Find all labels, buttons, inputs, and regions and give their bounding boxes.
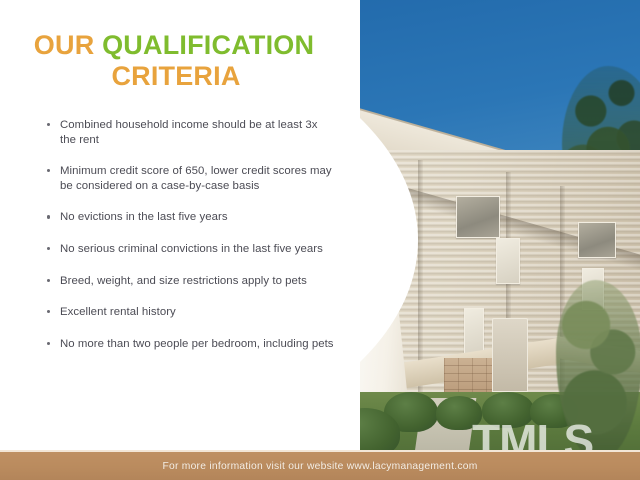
list-item: No more than two people per bedroom, inc…: [44, 337, 334, 352]
front-door: [492, 318, 528, 392]
window: [456, 196, 500, 238]
list-item: Excellent rental history: [44, 305, 334, 320]
list-item: Minimum credit score of 650, lower credi…: [44, 164, 334, 193]
criteria-list: Combined household income should be at l…: [44, 118, 334, 368]
footer-text: For more information visit our website w…: [162, 461, 477, 472]
title-line-one: OUR QUALIFICATION: [0, 30, 348, 61]
shrub: [482, 392, 534, 428]
list-item: Breed, weight, and size restrictions app…: [44, 274, 334, 289]
title-word-our: OUR: [34, 30, 95, 60]
window: [578, 222, 616, 258]
title-word-qualification: QUALIFICATION: [102, 30, 314, 60]
footer-bar: For more information visit our website w…: [0, 452, 640, 480]
page-title: OUR QUALIFICATION CRITERIA: [0, 30, 348, 92]
list-item: No evictions in the last five years: [44, 210, 334, 225]
window: [496, 238, 520, 284]
flyer-canvas: OUR QUALIFICATION CRITERIA Combined hous…: [0, 0, 640, 480]
shrub: [436, 396, 482, 430]
list-item: Combined household income should be at l…: [44, 118, 334, 147]
title-line-two: CRITERIA: [0, 61, 348, 92]
list-item: No serious criminal convictions in the l…: [44, 242, 334, 257]
